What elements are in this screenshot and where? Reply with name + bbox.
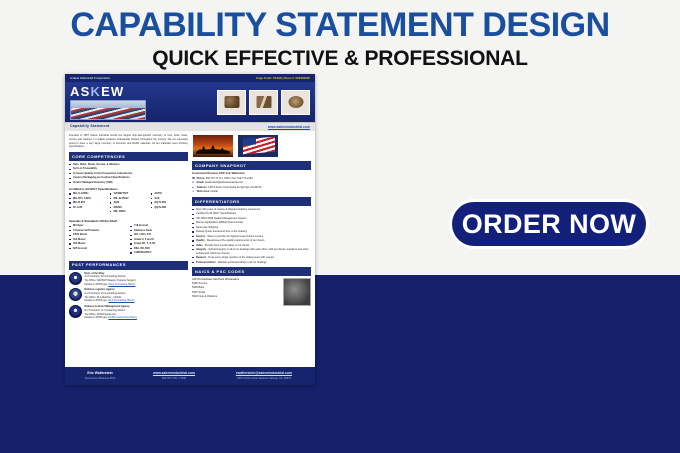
list-item: Over 100 years of marine & shipyard indu… bbox=[192, 208, 311, 212]
agency-details-link[interactable]: DCMA Contracting History bbox=[108, 316, 136, 319]
list-item: Nuts, Bolts, Studs, Screws, & Washers bbox=[69, 163, 188, 167]
address-value: 13071 Arctic Circle Santa Fe Springs, CA… bbox=[208, 186, 261, 189]
list-item: 5310 Nuts & Washers bbox=[192, 295, 280, 299]
list-item: AMS bbox=[110, 201, 148, 205]
list-item: CHROM-MOLY bbox=[130, 251, 188, 255]
work-area-label: Work Area: bbox=[197, 190, 210, 193]
naics-row: 423710 Hardware Merchant Wholesalers 530… bbox=[192, 278, 311, 306]
navy-seal-icon bbox=[69, 272, 82, 285]
email-label: Email: bbox=[197, 181, 205, 184]
document-topbar: Askew Industrial Corporation Cage Code: … bbox=[65, 74, 315, 82]
list-item: Vendor Managed Inventory (VMI) bbox=[69, 181, 188, 185]
capability-bar: Capability Statement www.askewindustrial… bbox=[65, 122, 315, 131]
hero-product-thumbnails bbox=[217, 90, 310, 115]
specials-heading: Specials & Standards Off-the-Shelf bbox=[69, 219, 188, 223]
fasteners-photo bbox=[283, 278, 311, 306]
list-item: Integrity - Uphold integrity in all of o… bbox=[192, 248, 311, 255]
agency-details-prefix: Details on FPDS.gov: bbox=[85, 299, 109, 302]
list-item: Quality - Meet/exceed the quality requir… bbox=[192, 239, 311, 243]
specials-column-1: Mil-Spec Commercial Products K500 Monel … bbox=[69, 224, 127, 255]
naics-heading: NAICS & PSC CODES bbox=[192, 267, 311, 276]
agency-details-link[interactable]: DLA Contracting History bbox=[108, 299, 134, 302]
list-item: Grade 2, 5 and 8 bbox=[130, 238, 188, 242]
list-item: FF-S-85 bbox=[69, 206, 107, 210]
agency-details-link[interactable]: Navy Contracting History bbox=[108, 283, 135, 286]
footer-contact-name: Eric Wallerstein Government Business POC bbox=[70, 371, 130, 380]
list-item: Marine Applications (Military/Commercial… bbox=[192, 221, 311, 225]
list-item: Custom Packaging per Contract Specificat… bbox=[69, 176, 188, 180]
core-competencies-heading: CORE COMPETENCIES bbox=[69, 152, 188, 161]
list-item: Same-day Shipping bbox=[192, 226, 311, 230]
dla-seal-icon bbox=[69, 288, 82, 301]
company-snapshot-heading: COMPANY SNAPSHOT bbox=[192, 161, 311, 170]
document-photo-row bbox=[192, 134, 311, 158]
cage-code: Cage Code: 5A19S | Duns #: 028453035 bbox=[256, 76, 310, 80]
work-area-value: Global bbox=[211, 190, 218, 193]
list-item: MIL-N-25027 bbox=[110, 197, 148, 201]
phone-icon: ☎ bbox=[192, 177, 195, 181]
work-area-row: ☀ Work Area: Global bbox=[192, 190, 311, 194]
list-item: Respect - Treat every single member of t… bbox=[192, 256, 311, 260]
naval-ship-photo bbox=[192, 134, 234, 158]
capability-statement-document[interactable]: Askew Industrial Corporation Cage Code: … bbox=[65, 74, 315, 385]
list-item: 625 Inconel bbox=[69, 247, 127, 251]
phone-value: 800-767-7171 x 7840 | Fax: 619-773-2181 bbox=[206, 177, 253, 180]
list-item: 304 / 316 / 347 bbox=[130, 233, 188, 237]
list-item: NASM27027 bbox=[110, 192, 148, 196]
specials-column-2: 718 Inconel Stainless Steel 304 / 316 / … bbox=[130, 224, 188, 255]
email-row: ✉ Email: ewallerstein@askewindustrial.co… bbox=[192, 181, 311, 185]
list-item: Certified To All NAVY Specifications bbox=[192, 212, 311, 216]
email-value[interactable]: ewallerstein@askewindustrial.com bbox=[205, 181, 243, 184]
list-item: MS/NS bbox=[110, 206, 148, 210]
globe-icon: ☀ bbox=[192, 190, 195, 194]
list-item: Full Lot Traceability bbox=[69, 167, 188, 171]
address-row: ● Address: 13071 Arctic Circle Santa Fe … bbox=[192, 186, 311, 190]
list-item: B8A, B8, B16 bbox=[130, 247, 188, 251]
washer-photo-icon bbox=[281, 90, 310, 115]
government-poc: Government Business POC: Eric Wallerstei… bbox=[192, 172, 311, 176]
phone-row: ☎ Phone: 800-767-7171 x 7840 | Fax: 619-… bbox=[192, 177, 311, 181]
document-body: Founded in 1957 Askew Industrial stocks … bbox=[65, 131, 315, 322]
list-item: QQ-N-281 bbox=[150, 201, 188, 205]
naics-codes-list: 423710 Hardware Merchant Wholesalers 530… bbox=[192, 278, 280, 306]
specials-grid: Mil-Spec Commercial Products K500 Monel … bbox=[69, 224, 188, 257]
list-item: 718 Inconel bbox=[130, 224, 188, 228]
list-item: ASTM bbox=[150, 192, 188, 196]
differentiators-heading: DIFFERENTIATORS bbox=[192, 197, 311, 206]
envelope-icon: ✉ bbox=[192, 181, 195, 185]
order-now-label: ORDER NOW bbox=[462, 209, 637, 240]
location-pin-icon: ● bbox=[192, 186, 195, 190]
list-item: Stainless Steel bbox=[130, 229, 188, 233]
bolt-photo-icon bbox=[249, 90, 278, 115]
nut-photo-icon bbox=[217, 90, 246, 115]
list-item: Commercial Products bbox=[69, 229, 127, 233]
list-item: SAE bbox=[150, 197, 188, 201]
list-item: Fastest Quote turnaround time in the ind… bbox=[192, 230, 311, 234]
agency-details-prefix: Details on FPDS.gov: bbox=[85, 283, 109, 286]
logo-wordmark: ASKEW bbox=[70, 85, 144, 98]
list-item: 405 Monel bbox=[69, 238, 127, 242]
company-website-link[interactable]: www.askewindustrial.com bbox=[268, 125, 310, 130]
list-item: Value - Provide best overall value to ou… bbox=[192, 244, 311, 248]
company-name: Askew Industrial Corporation bbox=[70, 76, 110, 80]
list-item: Service - Strive to provide the highest … bbox=[192, 235, 311, 239]
past-performances-heading: PAST PERFORMANCES bbox=[69, 261, 188, 270]
navy-specs-column-3: ASTM SAE QQ-N-281 QQ-N-286 bbox=[150, 192, 188, 214]
list-item: Professionalism - Maintain professionali… bbox=[192, 261, 311, 265]
list-item: MIL-DTL-1222L bbox=[69, 197, 107, 201]
list-item: Mil-Spec bbox=[69, 224, 127, 228]
company-intro: Founded in 1957 Askew Industrial stocks … bbox=[69, 134, 188, 149]
promo-canvas: CAPABILITY STATEMENT DESIGN QUICK EFFECT… bbox=[0, 0, 680, 453]
order-now-button[interactable]: ORDER NOW bbox=[452, 202, 646, 246]
agency-details-prefix: Details on FPDS.gov: bbox=[85, 316, 109, 319]
list-item: Defense Contract Management Agency # of … bbox=[69, 305, 188, 320]
document-hero: ASKEW bbox=[65, 82, 315, 122]
phone-label: Phone: bbox=[197, 177, 205, 180]
list-item: Defense Logistics Agency # of Contracts:… bbox=[69, 288, 188, 303]
page-subtitle: QUICK EFFECTIVE & PROFESSIONAL bbox=[0, 47, 680, 71]
address-label: Address: bbox=[197, 186, 208, 189]
capability-title: Capability Statement bbox=[70, 124, 110, 129]
differentiators-list: Over 100 years of marine & shipyard indu… bbox=[192, 208, 311, 264]
list-item: Dept. of the Navy # of Contracts: 52 Con… bbox=[69, 272, 188, 287]
company-logo: ASKEW bbox=[70, 85, 144, 120]
logo-flag-photo bbox=[70, 100, 146, 120]
american-flag-photo bbox=[237, 134, 279, 158]
dcma-seal-icon bbox=[69, 305, 82, 318]
navy-specs-grid: MIL-S-1222H MIL-DTL-1222L MIL-B-857 FF-S… bbox=[69, 192, 188, 216]
list-item: In-house Quality Control Inspection Labo… bbox=[69, 172, 188, 176]
list-item: Grade B7, 7, 8, BL bbox=[130, 242, 188, 246]
list-item: QQ-N-286 bbox=[150, 206, 188, 210]
list-item: K500 Monel bbox=[69, 233, 127, 237]
list-item: MIL-B-857 bbox=[69, 201, 107, 205]
navy-specs-heading: Certified to All NAVY Specifications bbox=[69, 187, 188, 191]
document-left-column: Founded in 1957 Askew Industrial stocks … bbox=[69, 134, 188, 322]
document-right-column: COMPANY SNAPSHOT Government Business POC… bbox=[192, 134, 311, 322]
footer-email[interactable]: ewallerstein@askewindustrial.com 13071 A… bbox=[218, 371, 310, 380]
page-title: CAPABILITY STATEMENT DESIGN bbox=[0, 6, 680, 45]
navy-specs-column-1: MIL-S-1222H MIL-DTL-1222L MIL-B-857 FF-S… bbox=[69, 192, 107, 214]
core-competencies-list: Nuts, Bolts, Studs, Screws, & Washers Fu… bbox=[69, 163, 188, 184]
footer-website[interactable]: www.askewindustrial.com 800-767-7171 x 7… bbox=[136, 371, 212, 380]
navy-specs-column-2: NASM27027 MIL-N-25027 AMS MS/NS MIL-SPEC bbox=[110, 192, 148, 214]
list-item: MIL-S-1222H bbox=[69, 192, 107, 196]
list-item: MIL-SPEC bbox=[110, 210, 148, 214]
list-item: ISO 9001:2008 Quality Management System bbox=[192, 217, 311, 221]
document-footer: Eric Wallerstein Government Business POC… bbox=[65, 367, 315, 385]
list-item: 400 Monel bbox=[69, 242, 127, 246]
